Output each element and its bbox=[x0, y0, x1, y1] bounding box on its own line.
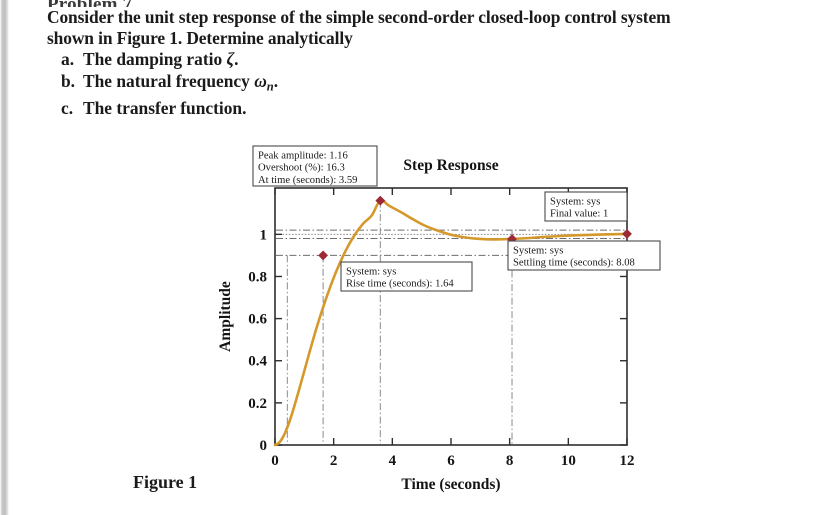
settling-time-annotation-line-1: Settling time (seconds): 8.08 bbox=[513, 258, 635, 269]
plot-area bbox=[275, 188, 627, 445]
item-text-a-before: The damping ratio bbox=[83, 49, 227, 69]
x-tick-label-4: 8 bbox=[506, 453, 513, 469]
rise-time-annotation[interactable]: System: sysRise time (seconds): 1.64 bbox=[341, 262, 472, 291]
item-marker-a: a. bbox=[61, 49, 83, 71]
item-marker-c: c. bbox=[61, 98, 83, 120]
x-tick-label-6: 12 bbox=[620, 453, 635, 469]
item-text-c: The transfer function. bbox=[83, 98, 246, 118]
item-text-b-before: The natural frequency bbox=[83, 71, 254, 91]
y-tick-label-1: 0.2 bbox=[248, 396, 267, 412]
y-tick-label-0: 0 bbox=[260, 438, 268, 454]
rise-time-annotation-line-1: Rise time (seconds): 1.64 bbox=[346, 279, 454, 290]
plot-frame bbox=[275, 188, 627, 445]
page-gutter bbox=[0, 0, 9, 515]
x-tick-label-0: 0 bbox=[271, 453, 279, 469]
problem-paragraph-line-1: Consider the unit step response of the s… bbox=[47, 7, 787, 28]
peak-annotation-line-2: At time (seconds): 3.59 bbox=[258, 175, 357, 186]
final-value-annotation[interactable]: System: sysFinal value: 1 bbox=[545, 192, 627, 221]
peak-annotation[interactable]: Peak amplitude: 1.16Overshoot (%): 16.3A… bbox=[253, 146, 377, 186]
settling-time-annotation-line-0: System: sys bbox=[513, 246, 563, 257]
item-text-a-after: . bbox=[234, 49, 238, 69]
item-symbol-omega-subscript: n bbox=[267, 79, 274, 93]
x-axis-label: Time (seconds) bbox=[401, 476, 500, 493]
x-tick-label-3: 6 bbox=[447, 453, 455, 469]
problem-paragraph-line-2: shown in Figure 1. Determine analyticall… bbox=[47, 28, 787, 49]
item-marker-b: b. bbox=[61, 71, 83, 93]
problem-item-a: a.The damping ratio ζ. bbox=[47, 49, 787, 71]
figure-caption: Figure 1 bbox=[133, 472, 197, 493]
settling-time-annotation[interactable]: System: sysSettling time (seconds): 8.08 bbox=[508, 241, 660, 270]
problem-item-list: a.The damping ratio ζ. b.The natural fre… bbox=[47, 49, 787, 119]
final-value-annotation-line-1: Final value: 1 bbox=[550, 209, 608, 220]
problem-header-clipped: Problem 7 bbox=[47, 0, 787, 7]
final-value-annotation-line-0: System: sys bbox=[550, 197, 600, 208]
y-axis-label: Amplitude bbox=[217, 281, 234, 352]
chart-title: Step Response bbox=[403, 157, 498, 174]
x-tick-label-1: 2 bbox=[330, 453, 338, 469]
y-tick-label-3: 0.6 bbox=[248, 312, 267, 328]
x-tick-label-5: 10 bbox=[561, 453, 576, 469]
y-tick-label-4: 0.8 bbox=[248, 269, 267, 285]
problem-item-c: c.The transfer function. bbox=[47, 98, 787, 120]
y-tick-label-5: 1 bbox=[260, 227, 268, 243]
item-text-b-after: . bbox=[274, 71, 278, 91]
peak-annotation-line-1: Overshoot (%): 16.3 bbox=[258, 163, 345, 174]
problem-item-b: b.The natural frequency ωn. bbox=[47, 71, 787, 98]
x-tick-label-2: 4 bbox=[389, 453, 397, 469]
rise-time-annotation-line-0: System: sys bbox=[346, 267, 396, 278]
item-symbol-omega: ω bbox=[254, 71, 267, 91]
y-tick-label-2: 0.4 bbox=[248, 354, 267, 370]
page-root: Problem 7 Consider the unit step respons… bbox=[0, 0, 828, 515]
peak-annotation-line-0: Peak amplitude: 1.16 bbox=[258, 151, 348, 162]
step-response-figure: 02468101200.20.40.60.81 Peak amplitude: … bbox=[200, 140, 670, 500]
problem-text-block: Problem 7 Consider the unit step respons… bbox=[47, 0, 787, 119]
step-response-chart: 02468101200.20.40.60.81 Peak amplitude: … bbox=[200, 140, 670, 500]
